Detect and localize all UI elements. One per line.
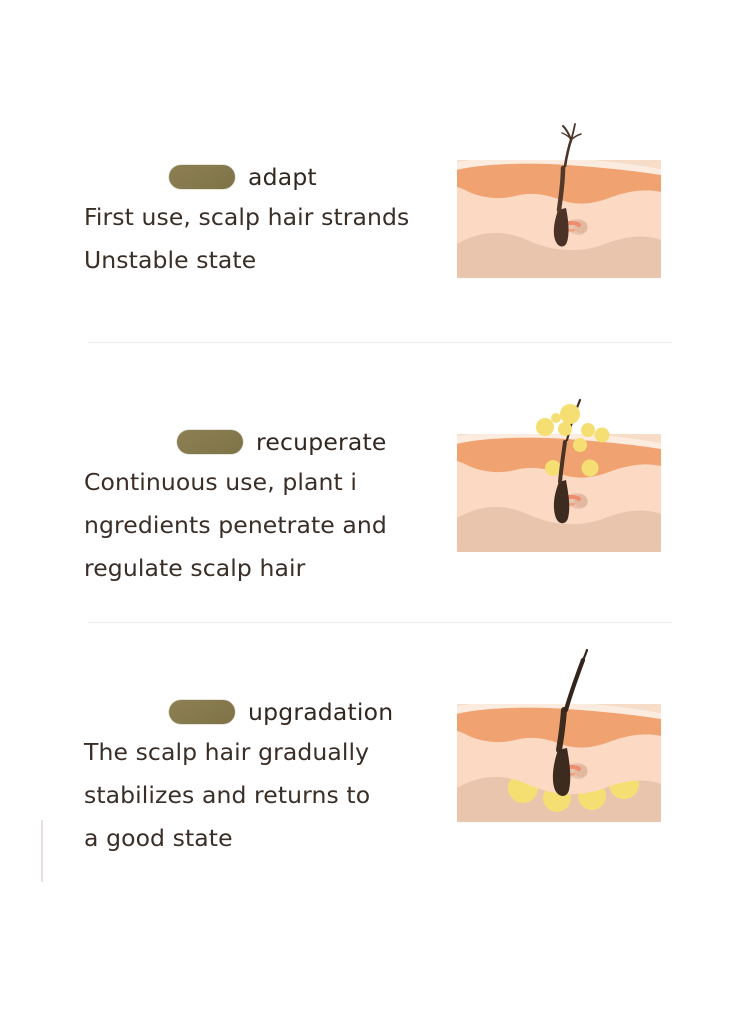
stage-badge-pill-icon — [177, 430, 243, 454]
stage-upgradation-title: upgradation — [248, 698, 393, 726]
stage-adapt-text: adapt First use, scalp hair strands Unst… — [84, 160, 454, 282]
stage-recuperate-line-1: Continuous use, plant i — [84, 461, 454, 504]
stage-upgradation-illustration — [457, 692, 661, 822]
stage-upgradation-badge-row: upgradation — [84, 695, 454, 729]
ingredient-particle — [595, 428, 610, 443]
left-edge-artifact — [41, 820, 43, 882]
stage-recuperate-line-3: regulate scalp hair — [84, 547, 454, 590]
ingredient-particle — [573, 438, 587, 452]
stage-adapt-badge-row: adapt — [84, 160, 454, 194]
infographic-page: adapt First use, scalp hair strands Unst… — [0, 0, 748, 1019]
ingredient-particle — [560, 404, 580, 424]
ingredient-particle — [545, 460, 561, 476]
stage-recuperate-illustration — [457, 422, 661, 552]
stage-recuperate-description: Continuous use, plant i ngredients penet… — [84, 461, 454, 590]
stage-badge-pill-icon — [169, 700, 235, 724]
ingredient-particle — [581, 423, 595, 437]
stage-upgradation-line-2: stabilizes and returns to — [84, 774, 454, 817]
ingredient-particle — [551, 413, 561, 423]
stage-adapt-line-1: First use, scalp hair strands — [84, 196, 454, 239]
ingredient-particle — [582, 460, 599, 477]
stage-badge-pill-icon — [169, 165, 235, 189]
stage-recuperate-line-2: ngredients penetrate and — [84, 504, 454, 547]
stage-upgradation: upgradation The scalp hair gradually sta… — [0, 695, 748, 895]
stage-upgradation-line-1: The scalp hair gradually — [84, 731, 454, 774]
stage-adapt-title: adapt — [248, 163, 317, 191]
stage-adapt-description: First use, scalp hair strands Unstable s… — [84, 196, 454, 282]
stage-upgradation-description: The scalp hair gradually stabilizes and … — [84, 731, 454, 860]
divider-2 — [88, 622, 672, 623]
stage-recuperate-text: recuperate Continuous use, plant i ngred… — [84, 425, 454, 590]
ingredient-particle — [536, 418, 554, 436]
stage-recuperate: recuperate Continuous use, plant i ngred… — [0, 425, 748, 625]
stage-adapt-line-2: Unstable state — [84, 239, 454, 282]
divider-1 — [88, 342, 672, 343]
stage-adapt-illustration — [457, 148, 661, 278]
stage-recuperate-badge-row: recuperate — [84, 425, 454, 459]
stage-recuperate-title: recuperate — [256, 428, 387, 456]
stage-adapt: adapt First use, scalp hair strands Unst… — [0, 160, 748, 325]
stage-upgradation-text: upgradation The scalp hair gradually sta… — [84, 695, 454, 860]
ingredient-particle — [558, 422, 572, 436]
stage-upgradation-line-3: a good state — [84, 817, 454, 860]
